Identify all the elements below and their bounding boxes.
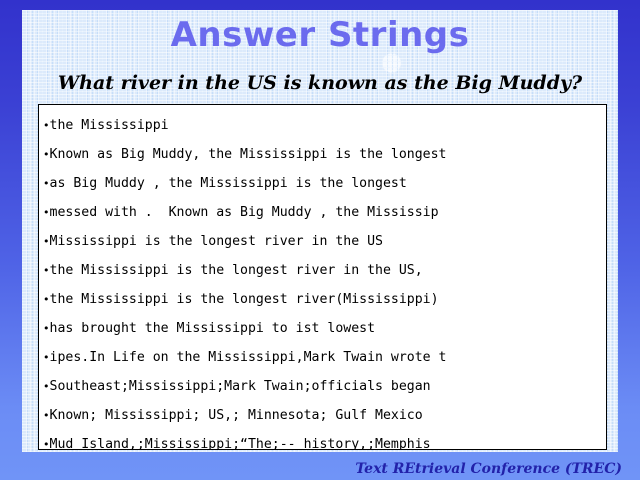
answer-strings-list: • the Mississippi • Known as Big Muddy, … [38,104,607,450]
answer-string: messed with . Known as Big Muddy , the M… [50,198,439,227]
list-item: • Known; Mississippi; US,; Minnesota; Gu… [43,401,606,430]
answer-string: Southeast;Mississippi;Mark Twain;officia… [50,372,431,401]
slide-footer: Text REtrieval Conference (TREC) [355,461,622,477]
answer-string: Known; Mississippi; US,; Minnesota; Gulf… [50,401,423,430]
question-text: What river in the US is known as the Big… [0,74,640,93]
answer-string: Mud Island,;Mississippi;“The;-- history,… [50,430,431,450]
answer-string: has brought the Mississippi to ist lowes… [50,314,376,343]
list-item: • the Mississippi is the longest river(M… [43,285,606,314]
list-item: • Known as Big Muddy, the Mississippi is… [43,140,606,169]
answer-string: as Big Muddy , the Mississippi is the lo… [50,169,407,198]
presentation-slide: Answer Strings What river in the US is k… [0,0,640,480]
list-item: • has brought the Mississippi to ist low… [43,314,606,343]
list-item: • Southeast;Mississippi;Mark Twain;offic… [43,372,606,401]
answer-string: Known as Big Muddy, the Mississippi is t… [50,140,447,169]
answer-string: the Mississippi [50,111,169,140]
list-item: • as Big Muddy , the Mississippi is the … [43,169,606,198]
answer-string: the Mississippi is the longest river(Mis… [50,285,439,314]
answer-string: ipes.In Life on the Mississippi,Mark Twa… [50,343,447,372]
page-title: Answer Strings [0,18,640,52]
list-item: • the Mississippi [43,111,606,140]
list-item: • Mississippi is the longest river in th… [43,227,606,256]
answer-string: the Mississippi is the longest river in … [50,256,423,285]
list-item: • messed with . Known as Big Muddy , the… [43,198,606,227]
list-item: • ipes.In Life on the Mississippi,Mark T… [43,343,606,372]
list-item: • Mud Island,;Mississippi;“The;-- histor… [43,430,606,450]
list-item: • the Mississippi is the longest river i… [43,256,606,285]
answer-string: Mississippi is the longest river in the … [50,227,383,256]
